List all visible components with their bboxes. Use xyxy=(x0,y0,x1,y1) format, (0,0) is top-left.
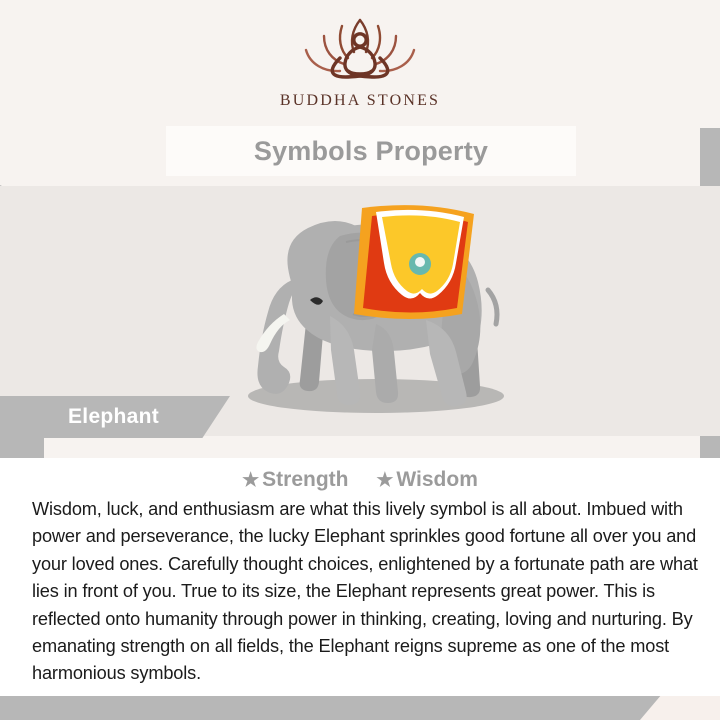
star-icon: ★ xyxy=(242,470,259,491)
trait-wisdom-label: Wisdom xyxy=(396,468,477,491)
page-title-banner: Symbols Property xyxy=(166,126,576,176)
symbol-description: Wisdom, luck, and enthusiasm are what th… xyxy=(0,494,720,688)
symbol-name: Elephant xyxy=(68,405,159,429)
symbol-name-tag: Elephant xyxy=(0,396,230,438)
symbol-text-panel: ★Strength ★Wisdom Wisdom, luck, and enth… xyxy=(0,458,720,696)
trait-strength: ★Strength xyxy=(242,468,354,491)
brand-name: BUDDHA STONES xyxy=(280,92,440,110)
trait-wisdom: ★Wisdom xyxy=(376,468,478,491)
star-icon: ★ xyxy=(376,470,393,491)
page-title: Symbols Property xyxy=(254,136,488,167)
frame-band-bottom xyxy=(0,694,720,720)
brand-header: BUDDHA STONES xyxy=(0,0,720,128)
symbol-property-card: BUDDHA STONES Symbols Property xyxy=(0,0,720,720)
symbol-traits: ★Strength ★Wisdom xyxy=(0,458,720,494)
brand-logo: BUDDHA STONES xyxy=(0,14,720,110)
lotus-meditation-figure-icon xyxy=(280,14,440,88)
elephant-icon xyxy=(180,184,560,434)
trait-strength-label: Strength xyxy=(262,468,348,491)
